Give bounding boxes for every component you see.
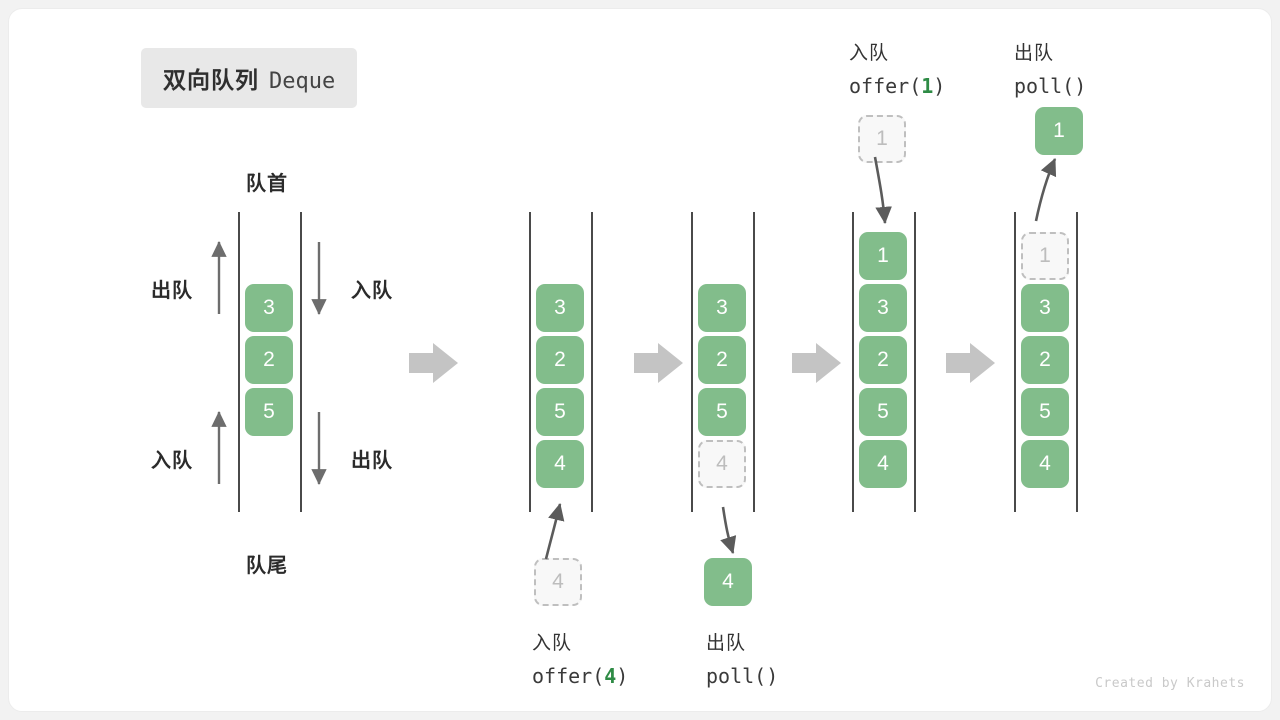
panel-5-rail-left <box>1014 212 1016 512</box>
cell: 3 <box>859 284 907 332</box>
panel-4-incoming-ghost-cell: 1 <box>858 115 906 163</box>
cell: 3 <box>1021 284 1069 332</box>
panel-3-stack: 3 2 5 4 <box>698 284 746 488</box>
panel-3-rail-right <box>753 212 755 512</box>
cell: 5 <box>245 388 293 436</box>
panel-3-outgoing-cell: 4 <box>704 558 752 606</box>
step-arrow-3 <box>792 343 841 383</box>
operation-code: poll() <box>706 660 778 692</box>
label-enqueue-tail: 入队 <box>151 444 193 473</box>
arrow-offer-4-into-tail <box>546 504 560 559</box>
panel-5-stack: 1 3 2 5 4 <box>1021 232 1069 488</box>
step-arrow-4 <box>946 343 995 383</box>
panel-2-incoming-ghost-cell: 4 <box>534 558 582 606</box>
arrow-poll-4-out-of-tail <box>723 507 733 553</box>
cell: 1 <box>859 232 907 280</box>
cell: 2 <box>536 336 584 384</box>
operation-code: poll() <box>1014 70 1086 102</box>
removed-ghost-cell: 4 <box>698 440 746 488</box>
tail-label: 队尾 <box>246 549 288 578</box>
operation-name: 入队 <box>849 39 945 70</box>
credit-text: Created by Krahets <box>1095 676 1245 691</box>
diagram-title-badge: 双向队列 Deque <box>141 48 357 108</box>
panel-2-stack: 3 2 5 4 <box>536 284 584 488</box>
cell: 3 <box>245 284 293 332</box>
step-arrow-1 <box>409 343 458 383</box>
panel-5-outgoing-cell: 1 <box>1035 107 1083 155</box>
arrow-offer-1-into-head <box>875 157 885 223</box>
cell: 3 <box>536 284 584 332</box>
cell: 5 <box>536 388 584 436</box>
panel-5-rail-right <box>1076 212 1078 512</box>
operation-code: offer(1) <box>849 70 945 102</box>
panel-5-operation-label: 出队 poll() <box>1014 39 1086 102</box>
removed-ghost-cell: 1 <box>1021 232 1069 280</box>
cell: 2 <box>698 336 746 384</box>
cell: 3 <box>698 284 746 332</box>
panel-3-operation-label: 出队 poll() <box>706 629 778 692</box>
panel-1-stack: 3 2 5 <box>245 284 293 436</box>
title-english: Deque <box>269 69 335 94</box>
arrow-poll-1-out-of-head <box>1036 159 1055 221</box>
panel-2-rail-right <box>591 212 593 512</box>
operation-code: offer(4) <box>532 660 628 692</box>
label-enqueue-head: 入队 <box>351 274 393 303</box>
panel-4-stack: 1 3 2 5 4 <box>859 232 907 488</box>
panel-2-rail-left <box>529 212 531 512</box>
operation-name: 出队 <box>1014 39 1086 70</box>
panel-2-operation-label: 入队 offer(4) <box>532 629 628 692</box>
panel-1-rail-left <box>238 212 240 512</box>
head-label: 队首 <box>246 167 288 196</box>
title-chinese: 双向队列 <box>163 61 259 95</box>
operation-name: 出队 <box>706 629 778 660</box>
cell: 4 <box>859 440 907 488</box>
panel-4-rail-right <box>914 212 916 512</box>
panel-1-rail-right <box>300 212 302 512</box>
cell: 5 <box>698 388 746 436</box>
cell: 5 <box>1021 388 1069 436</box>
label-dequeue-tail: 出队 <box>351 444 393 473</box>
cell: 4 <box>1021 440 1069 488</box>
step-arrow-2 <box>634 343 683 383</box>
cell: 4 <box>536 440 584 488</box>
panel-4-operation-label: 入队 offer(1) <box>849 39 945 102</box>
label-dequeue-head: 出队 <box>151 274 193 303</box>
diagram-canvas: 双向队列 Deque 队首 队尾 3 2 5 出队 入队 入队 出队 3 2 5… <box>8 8 1272 712</box>
panel-3-rail-left <box>691 212 693 512</box>
operation-name: 入队 <box>532 629 628 660</box>
cell: 2 <box>1021 336 1069 384</box>
cell: 2 <box>245 336 293 384</box>
cell: 2 <box>859 336 907 384</box>
cell: 5 <box>859 388 907 436</box>
panel-4-rail-left <box>852 212 854 512</box>
